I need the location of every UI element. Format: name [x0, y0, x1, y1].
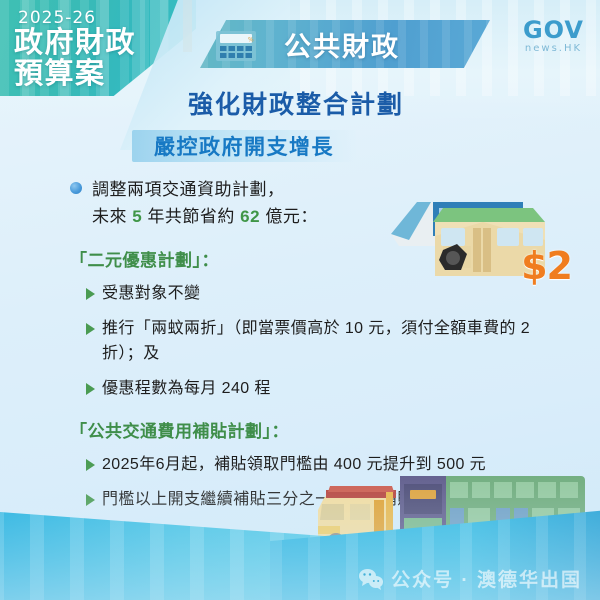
bullet-dot-icon	[70, 182, 82, 194]
wechat-icon	[358, 568, 384, 590]
watermark-text: 公众号 · 澳德华出国	[391, 565, 582, 592]
list-item-text: 推行「兩蚊兩折」（即當票價高於 10 元，須付全額車費的 2 折）；及	[102, 316, 540, 366]
public-finance-banner: % 公共財政	[200, 20, 490, 68]
list-item: 優惠程數為每月 240 程	[70, 376, 540, 401]
lead-savings-amount: 62	[240, 207, 260, 226]
lead-savings-years: 5	[132, 207, 142, 226]
svg-text:%: %	[248, 37, 254, 44]
budget-infographic-poster: 2025-26 政府財政 預算案 % 公共財政 GOV news.HK 強化財政…	[0, 0, 600, 600]
sub-heading-text: 嚴控政府開支增長	[154, 131, 334, 161]
triangle-marker-icon	[86, 459, 95, 471]
lead-line2-mid: 年共節省約	[147, 207, 235, 226]
govnews-logo: GOV news.HK	[523, 18, 584, 54]
logo-secondary-text: news.HK	[523, 44, 584, 54]
triangle-marker-icon	[86, 323, 95, 335]
section-label-transport-subsidy: 「公共交通費用補貼計劃」：	[70, 417, 540, 442]
list-item: 推行「兩蚊兩折」（即當票價高於 10 元，須付全額車費的 2 折）；及	[70, 316, 540, 366]
budget-title: 政府財政 預算案	[14, 28, 136, 90]
list-item-text: 優惠程數為每月 240 程	[102, 376, 271, 401]
triangle-marker-icon	[86, 288, 95, 300]
fare-badge: $2	[521, 244, 572, 288]
watermark: 公众号 · 澳德华出国	[358, 565, 582, 592]
triangle-marker-icon	[86, 383, 95, 395]
lead-line2-pre: 未來	[92, 207, 127, 226]
budget-year-label: 2025-26	[18, 8, 96, 28]
triangle-marker-icon	[86, 494, 95, 506]
page-title: 強化財政整合計劃	[188, 85, 404, 121]
lead-line2-post: 億元：	[265, 207, 318, 226]
banner-label: 公共財政	[284, 25, 400, 64]
list-item-text: 受惠對象不變	[102, 281, 200, 306]
lead-text: 調整兩項交通資助計劃， 未來 5 年共節省約 62 億元：	[92, 176, 318, 230]
lead-line1: 調整兩項交通資助計劃，	[92, 180, 285, 199]
sub-heading-band: 嚴控政府開支增長	[132, 130, 356, 162]
logo-primary-text: GOV	[523, 18, 584, 42]
calculator-icon: %	[214, 29, 260, 63]
